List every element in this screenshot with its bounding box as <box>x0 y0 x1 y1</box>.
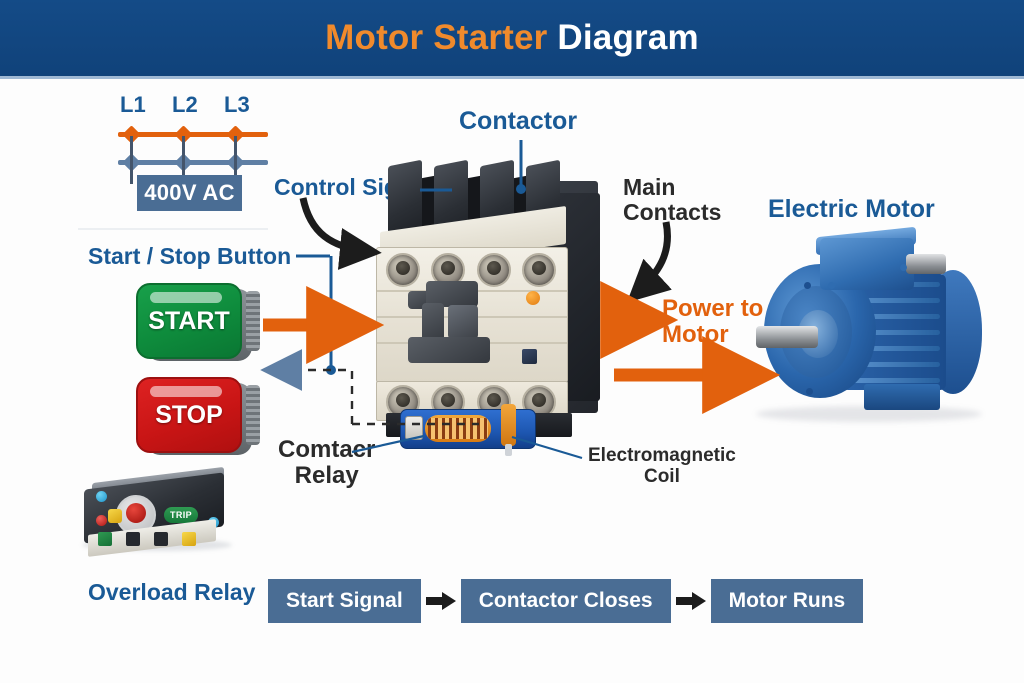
banner-underline <box>0 76 1024 79</box>
upper-terminal-row <box>386 253 556 283</box>
phase-label-l1: L1 <box>120 92 146 118</box>
motor-mounting-foot <box>864 384 940 410</box>
start-button-face[interactable]: START <box>136 283 242 359</box>
contactor-relay-label: Comtacr Relay <box>278 437 375 489</box>
flow-step-start-signal[interactable]: Start Signal <box>268 579 421 623</box>
electromagnetic-coil-assembly <box>400 409 536 449</box>
electric-motor-label: Electric Motor <box>768 196 935 223</box>
start-button-text: START <box>148 307 229 336</box>
main-contacts-arrow <box>634 222 668 296</box>
stop-button[interactable]: STOP <box>136 377 252 455</box>
supply-divider <box>78 228 268 230</box>
feedback-dashed-upper <box>292 370 352 424</box>
neutral-rail <box>118 160 268 165</box>
mech-center-block <box>448 305 478 339</box>
electromagnetic-coil-label: Electromagnetic Coil <box>588 446 736 487</box>
electric-motor-device <box>746 238 996 428</box>
stop-button-ribs <box>246 385 260 445</box>
flow-arrow-1 <box>421 579 461 623</box>
overload-relay-label: Overload Relay <box>88 580 255 605</box>
trip-indicator[interactable]: TRIP <box>164 507 198 523</box>
terminal-box-bolt-1 <box>900 264 907 271</box>
stop-button-text: STOP <box>155 401 223 430</box>
rail-drop-l1 <box>130 136 133 184</box>
terminal-indicator-dark-1 <box>126 532 140 546</box>
terminal-screw-4[interactable] <box>522 253 556 287</box>
page-title-rest: Diagram <box>557 18 698 57</box>
start-stop-button-label: Start / Stop Button <box>88 244 291 269</box>
start-button-gloss <box>150 292 222 303</box>
coil-plunger-tip <box>505 444 512 456</box>
motor-fin-7 <box>848 378 940 383</box>
phase-label-l3: L3 <box>224 92 250 118</box>
start-button-ribs <box>246 291 260 351</box>
main-contacts-label: Main Contacts <box>623 175 721 225</box>
page-banner: Motor Starter Diagram <box>0 0 1024 76</box>
mech-bottom-bar <box>408 337 490 363</box>
terminal-indicator-yellow <box>182 532 196 546</box>
stop-button-gloss <box>150 386 222 397</box>
page-title: Motor Starter Diagram <box>325 18 699 58</box>
overload-relay-led-blue <box>96 491 107 502</box>
terminal-indicator-green <box>98 532 112 546</box>
terminal-box-bolt-2 <box>828 282 835 289</box>
start-stop-junction-dot <box>326 365 336 375</box>
status-led-orange <box>526 291 540 305</box>
motor-shaft <box>756 326 818 348</box>
stop-button-face[interactable]: STOP <box>136 377 242 453</box>
flow-arrow-2 <box>671 579 711 623</box>
overload-relay-led-yellow <box>108 509 122 523</box>
flow-step-contactor-closes[interactable]: Contactor Closes <box>461 579 671 623</box>
voltage-badge: 400V AC <box>137 175 242 211</box>
contactor-label: Contactor <box>459 108 577 135</box>
start-button[interactable]: START <box>136 283 252 361</box>
phase-label-l2: L2 <box>172 92 198 118</box>
motor-bolt-1 <box>804 282 811 289</box>
terminal-indicator-dark-2 <box>154 532 168 546</box>
terminal-box-gland <box>906 254 946 274</box>
control-signal-arrow <box>303 198 372 252</box>
live-rail <box>118 132 268 137</box>
page-title-accent: Motor Starter <box>325 18 557 57</box>
contactor-device <box>372 163 622 433</box>
overload-relay-device: TRIP <box>78 477 238 563</box>
overload-relay-led-red <box>96 515 107 526</box>
process-flow: Start Signal Contactor Closes Motor Runs <box>268 579 863 623</box>
motor-bolt-2 <box>806 388 813 395</box>
flow-step-motor-runs[interactable]: Motor Runs <box>711 579 864 623</box>
motor-starter-diagram: Motor Starter Diagram L1 L2 L3 400V AC S… <box>0 0 1024 683</box>
coil-plunger <box>501 404 516 446</box>
contactor-mechanism <box>408 281 512 365</box>
aux-contact-chip <box>522 349 537 364</box>
coil-windings <box>428 418 488 439</box>
coil-terminal-lug <box>405 416 423 440</box>
